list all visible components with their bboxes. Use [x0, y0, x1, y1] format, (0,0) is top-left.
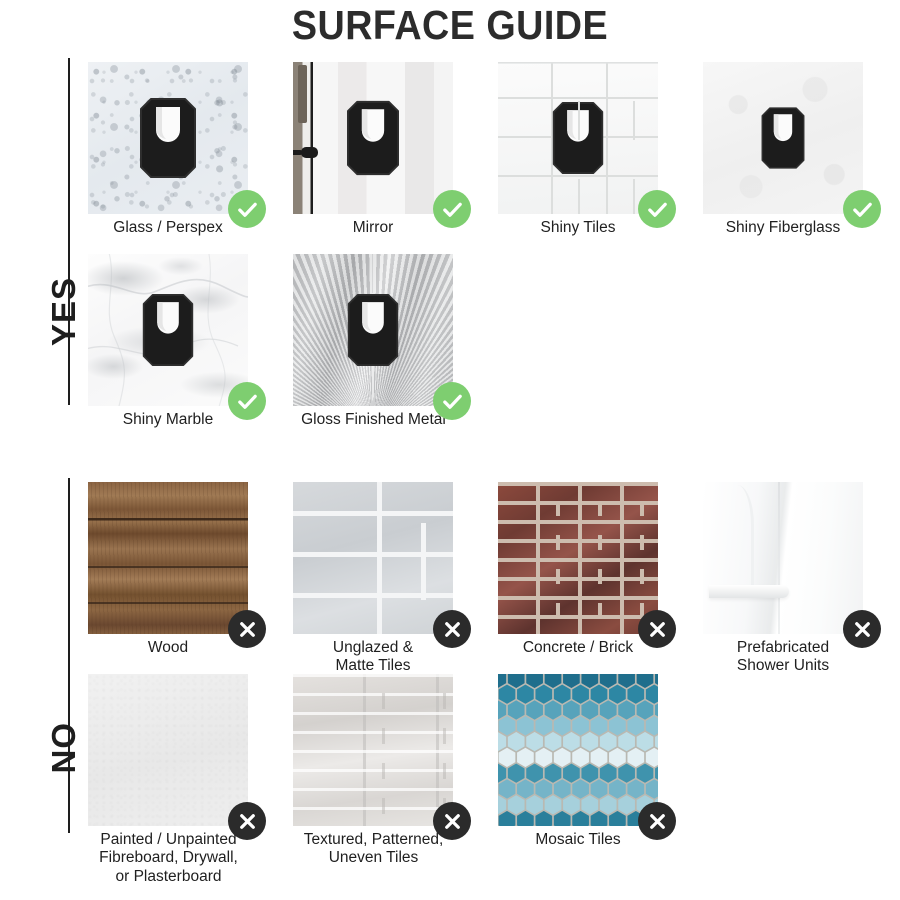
surface-card-painted-unpainted-fibreboard[interactable]: Painted / Unpainted Fibreboard, Drywall,…: [88, 674, 248, 886]
stone-course-offset: [293, 674, 453, 826]
adhesive-wall-hook-icon: [760, 106, 806, 171]
cross-icon: [441, 810, 464, 833]
surface-texture-stone-cladding: [293, 674, 453, 826]
status-badge-rejected: [433, 802, 471, 840]
thumbnail-wrap: [88, 482, 248, 634]
cross-icon: [646, 618, 669, 641]
surface-texture-drywall: [88, 674, 248, 826]
surface-label: Painted / Unpainted Fibreboard, Drywall,…: [66, 831, 271, 886]
status-badge-rejected: [433, 610, 471, 648]
cross-icon: [236, 618, 259, 641]
section-divider-line-yes: [68, 58, 70, 405]
door-frame-detail: [298, 65, 307, 123]
section-no: NO Wood: [0, 478, 900, 896]
section-yes: YES: [0, 58, 900, 443]
status-badge-rejected: [843, 610, 881, 648]
thumbnail-wrap: [293, 674, 453, 826]
surface-texture-brick: [498, 482, 658, 634]
thumbnail-wrap: [498, 674, 658, 826]
thumbnail-wrap: [293, 254, 453, 406]
surface-card-gloss-finished-metal[interactable]: Gloss Finished Metal: [293, 254, 453, 429]
thumbnail-wrap: [88, 62, 248, 214]
cross-icon: [646, 810, 669, 833]
cross-icon: [236, 810, 259, 833]
surface-texture-fiberglass: [703, 62, 863, 214]
surface-label: Wood: [88, 639, 248, 657]
shower-wall-curve: [713, 485, 755, 585]
surface-label: Glass / Perspex: [88, 219, 248, 237]
brick-course-offset: [498, 482, 658, 634]
thumbnail-wrap: [88, 254, 248, 406]
surface-label: Shiny Marble: [88, 411, 248, 429]
surface-texture-mirror: [293, 62, 453, 214]
surface-card-concrete-brick[interactable]: Concrete / Brick: [498, 482, 658, 657]
surface-label: Unglazed & Matte Tiles: [293, 639, 453, 676]
cross-icon: [441, 618, 464, 641]
check-icon: [441, 198, 464, 221]
adhesive-wall-hook-icon: [345, 99, 401, 177]
surface-texture-mosaic: [498, 674, 658, 826]
page-title: SURFACE GUIDE: [36, 2, 864, 49]
check-icon: [851, 198, 874, 221]
status-badge-approved: [228, 382, 266, 420]
surface-card-shiny-marble[interactable]: Shiny Marble: [88, 254, 248, 429]
adhesive-wall-hook-icon: [138, 96, 198, 180]
surface-card-shiny-fiberglass[interactable]: Shiny Fiberglass: [703, 62, 863, 237]
status-badge-approved: [228, 190, 266, 228]
thumbnail-wrap: [293, 482, 453, 634]
check-icon: [646, 198, 669, 221]
thumbnail-wrap: [498, 482, 658, 634]
thumbnail-wrap: [293, 62, 453, 214]
surface-texture-glass: [88, 62, 248, 214]
thumbnail-wrap: [88, 674, 248, 826]
check-icon: [236, 198, 259, 221]
surface-label: Mirror: [293, 219, 453, 237]
thumbnail-wrap: [703, 62, 863, 214]
thumbnail-wrap: [498, 62, 658, 214]
status-badge-approved: [843, 190, 881, 228]
status-badge-approved: [433, 382, 471, 420]
surface-guide-page: SURFACE GUIDE YES: [0, 0, 900, 900]
section-label-no: NO: [45, 722, 83, 786]
surface-texture-shower-unit: [703, 482, 863, 634]
surface-card-glass-perspex[interactable]: Glass / Perspex: [88, 62, 248, 237]
surface-card-shiny-tiles[interactable]: Shiny Tiles: [498, 62, 658, 237]
surface-card-wood[interactable]: Wood: [88, 482, 248, 657]
status-badge-rejected: [638, 802, 676, 840]
surface-label: Shiny Fiberglass: [703, 219, 863, 237]
adhesive-wall-hook-icon: [346, 292, 400, 368]
surface-card-mirror[interactable]: Mirror: [293, 62, 453, 237]
status-badge-rejected: [228, 610, 266, 648]
surface-card-textured-patterned-uneven-tiles[interactable]: Textured, Patterned, Uneven Tiles: [293, 674, 453, 868]
section-label-yes: YES: [45, 282, 83, 346]
cross-icon: [851, 618, 874, 641]
thumbnail-wrap: [703, 482, 863, 634]
status-badge-rejected: [228, 802, 266, 840]
check-icon: [236, 390, 259, 413]
surface-card-unglazed-matte-tiles[interactable]: Unglazed & Matte Tiles: [293, 482, 453, 676]
surface-label: Shiny Tiles: [498, 219, 658, 237]
shower-shelf: [709, 585, 789, 598]
status-badge-rejected: [638, 610, 676, 648]
tile-course-offset: [293, 482, 453, 634]
surface-card-mosaic-tiles[interactable]: Mosaic Tiles: [498, 674, 658, 849]
shower-panel-seam: [778, 482, 780, 634]
surface-texture-wood: [88, 482, 248, 634]
surface-texture-marble: [88, 254, 248, 406]
tile-course-offset: [498, 62, 658, 214]
check-icon: [441, 390, 464, 413]
adhesive-wall-hook-icon: [141, 292, 195, 368]
surface-card-prefabricated-shower-units[interactable]: Prefabricated Shower Units: [703, 482, 863, 676]
surface-texture-subway-tile: [498, 62, 658, 214]
adhesive-wall-hook-icon: [551, 100, 605, 176]
surface-label: Mosaic Tiles: [498, 831, 658, 849]
door-handle-icon: [301, 147, 318, 158]
surface-label: Concrete / Brick: [498, 639, 658, 657]
hexagon-mosaic-pattern: [498, 674, 658, 826]
surface-texture-brushed-metal: [293, 254, 453, 406]
status-badge-approved: [433, 190, 471, 228]
surface-label: Prefabricated Shower Units: [703, 639, 863, 676]
status-badge-approved: [638, 190, 676, 228]
surface-texture-matte-tile: [293, 482, 453, 634]
